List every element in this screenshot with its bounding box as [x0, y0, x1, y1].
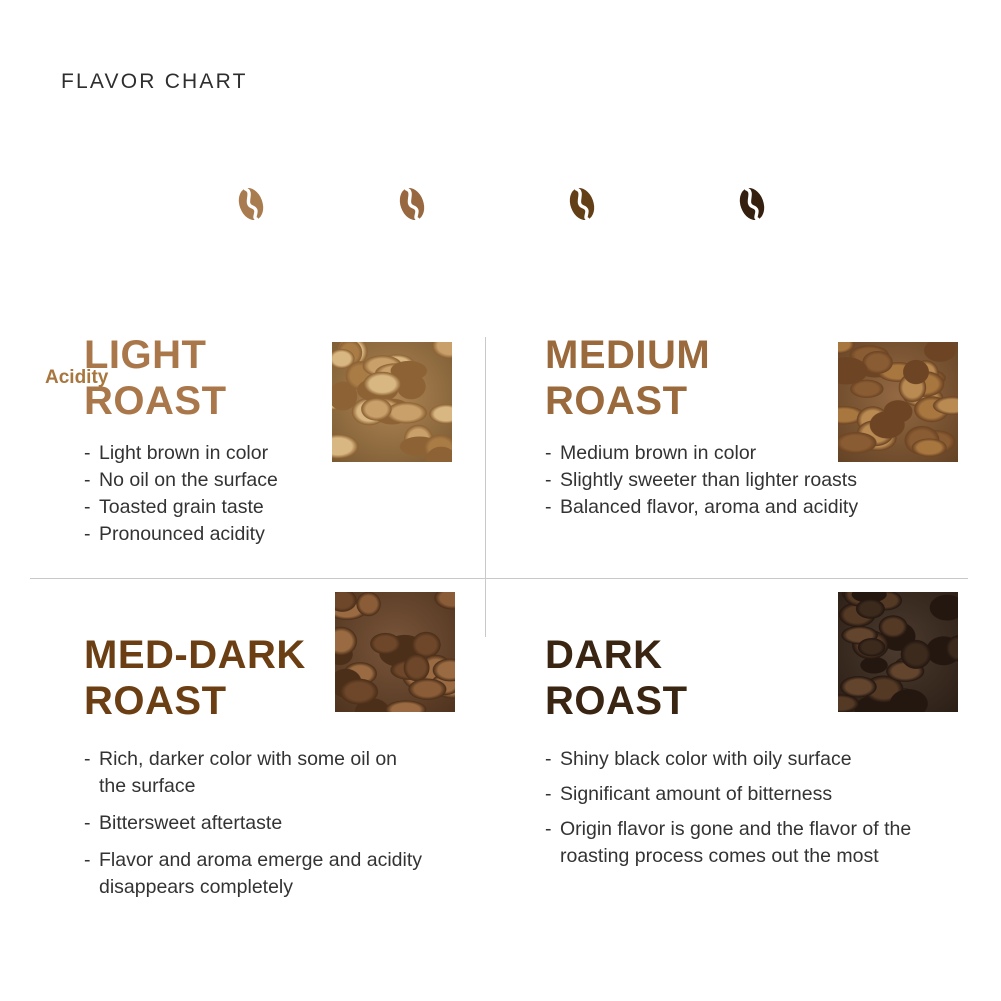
med-dark-roast-beans-photo: [335, 592, 455, 712]
bullet-text: Significant amount of bitterness: [560, 781, 935, 808]
bullet-text: Toasted grain taste: [99, 494, 414, 521]
bullet-dash: -: [84, 847, 99, 901]
bean-marker-group: [230, 180, 773, 228]
coffee-bean-icon: [230, 180, 272, 228]
light-roast-beans-photo: [332, 342, 452, 462]
horizontal-divider: [30, 578, 968, 579]
bullet-dash: -: [545, 494, 560, 521]
list-item: -Shiny black color with oily surface: [545, 746, 935, 773]
bullet-text: Slightly sweeter than lighter roasts: [560, 467, 945, 494]
medium-roast-beans-photo: [838, 342, 958, 462]
bullet-dash: -: [545, 781, 560, 808]
list-item: -Toasted grain taste: [84, 494, 414, 521]
bullet-dash: -: [545, 467, 560, 494]
bullet-text: Bittersweet aftertaste: [99, 810, 424, 837]
list-item: -Bittersweet aftertaste: [84, 810, 424, 837]
bullet-dash: -: [545, 440, 560, 467]
roast-scale-graphic: [0, 160, 1001, 280]
bullet-dash: -: [84, 467, 99, 494]
bullet-text: Flavor and aroma emerge and acidity disa…: [99, 847, 424, 901]
bullet-text: Pronounced acidity: [99, 521, 414, 548]
list-item: -Rich, darker color with some oil on the…: [84, 746, 424, 800]
coffee-bean-icon: [391, 180, 433, 228]
page-title: FLAVOR CHART: [61, 70, 248, 94]
bullet-dash: -: [84, 521, 99, 548]
bullet-text: Balanced flavor, aroma and acidity: [560, 494, 945, 521]
flavor-chart-page: FLAVOR CHART Acidity: [0, 0, 1001, 1001]
list-item: -Flavor and aroma emerge and acidity dis…: [84, 847, 424, 901]
bullet-text: Origin flavor is gone and the flavor of …: [560, 816, 935, 870]
bullet-text: Rich, darker color with some oil on the …: [99, 746, 424, 800]
bullet-dash: -: [84, 440, 99, 467]
list-item: -Pronounced acidity: [84, 521, 414, 548]
bullet-text: No oil on the surface: [99, 467, 414, 494]
bullet-dash: -: [84, 494, 99, 521]
vertical-divider: [485, 337, 486, 637]
list-item: -Balanced flavor, aroma and acidity: [545, 494, 945, 521]
bullet-dash: -: [84, 746, 99, 800]
coffee-bean-icon: [561, 180, 603, 228]
list-item: -No oil on the surface: [84, 467, 414, 494]
list-item: -Significant amount of bitterness: [545, 781, 935, 808]
roast-scale: Acidity Bitterness LIGHT MEDIUM MED-DARK…: [0, 160, 1001, 280]
bullet-dash: -: [84, 810, 99, 837]
list-item: -Slightly sweeter than lighter roasts: [545, 467, 945, 494]
list-item: -Origin flavor is gone and the flavor of…: [545, 816, 935, 870]
bullet-dash: -: [545, 816, 560, 870]
dark-roast-beans-photo: [838, 592, 958, 712]
bullet-text: Shiny black color with oily surface: [560, 746, 935, 773]
med-dark-roast-bullets: -Rich, darker color with some oil on the…: [84, 746, 424, 901]
dark-roast-bullets: -Shiny black color with oily surface -Si…: [545, 746, 935, 870]
bullet-dash: -: [545, 746, 560, 773]
coffee-bean-icon: [731, 180, 773, 228]
